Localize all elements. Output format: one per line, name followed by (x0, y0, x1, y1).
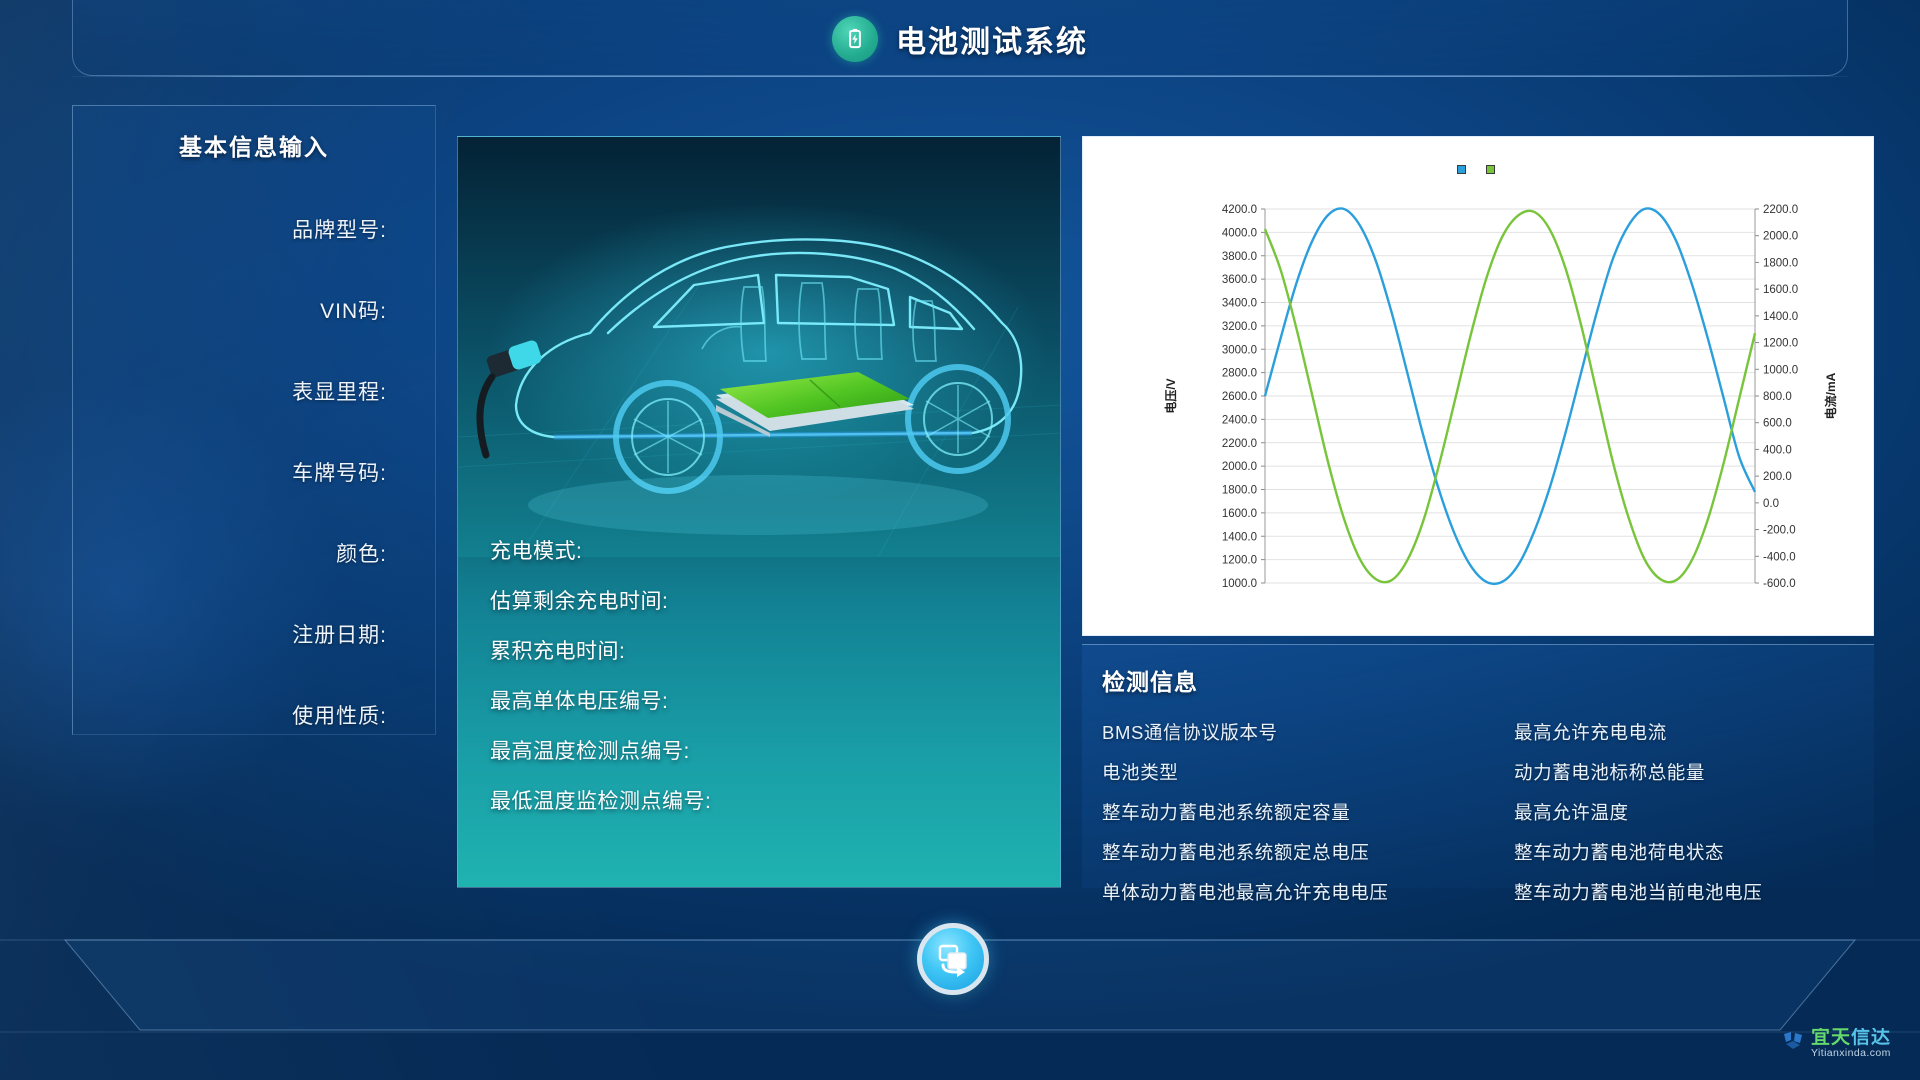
svg-text:-600.0: -600.0 (1763, 578, 1796, 590)
svg-text:4000.0: 4000.0 (1222, 227, 1257, 239)
detect-item-bms-protocol-version[interactable]: BMS通信协议版本号 (1102, 719, 1514, 745)
legend-swatch-voltage (1457, 165, 1466, 174)
svg-text:1000.0: 1000.0 (1222, 578, 1257, 590)
legend-item-current[interactable] (1486, 165, 1499, 174)
detection-info-title: 检测信息 (1102, 663, 1874, 697)
field-label: 表显里程: (292, 376, 387, 406)
charging-field-list: 充电模式: 估算剩余充电时间: 累积充电时间: 最高单体电压编号: 最高温度检测… (490, 535, 1044, 835)
yitian-logo-icon (1780, 1028, 1806, 1059)
field-label: VIN码: (320, 295, 387, 325)
battery-bolt-icon (832, 16, 878, 62)
detect-item-max-allowed-charge-current[interactable]: 最高允许充电电流 (1514, 719, 1874, 745)
svg-text:1000.0: 1000.0 (1763, 364, 1798, 376)
page-title: 电池测试系统 (896, 17, 1088, 61)
svg-text:2600.0: 2600.0 (1222, 391, 1257, 403)
charge-row-estimated-remaining-time[interactable]: 估算剩余充电时间: (490, 585, 1044, 635)
svg-text:3600.0: 3600.0 (1222, 274, 1257, 286)
electric-vehicle-xray-image (458, 137, 1061, 557)
watermark-chinese-text: 宜天信达 (1811, 1028, 1891, 1047)
charge-row-min-temp-probe-id[interactable]: 最低温度监检测点编号: (490, 785, 1044, 835)
detect-item-current-battery-voltage[interactable]: 整车动力蓄电池当前电池电压 (1514, 879, 1874, 905)
charge-label: 充电模式: (490, 535, 582, 565)
charge-label: 最高温度检测点编号: (490, 735, 690, 765)
svg-text:1600.0: 1600.0 (1763, 284, 1798, 296)
detection-info-panel: 检测信息 BMS通信协议版本号 最高允许充电电流 电池类型 动力蓄电池标称总能量… (1082, 644, 1874, 888)
svg-text:0.0: 0.0 (1763, 498, 1779, 510)
detect-item-rated-capacity[interactable]: 整车动力蓄电池系统额定容量 (1102, 799, 1514, 825)
svg-text:1200.0: 1200.0 (1763, 338, 1798, 350)
svg-text:3400.0: 3400.0 (1222, 298, 1257, 310)
svg-text:-200.0: -200.0 (1763, 525, 1796, 537)
svg-text:4200.0: 4200.0 (1222, 204, 1257, 216)
charge-row-max-cell-voltage-id[interactable]: 最高单体电压编号: (490, 685, 1044, 735)
field-row-mileage[interactable]: 表显里程: (73, 376, 387, 457)
chart-y-axis-left-label: 电压/V (1163, 378, 1178, 413)
detect-item-cell-max-charge-voltage[interactable]: 单体动力蓄电池最高允许充电电压 (1102, 879, 1514, 905)
detect-item-max-allowed-temperature[interactable]: 最高允许温度 (1514, 799, 1874, 825)
legend-swatch-current (1486, 165, 1495, 174)
svg-text:200.0: 200.0 (1763, 471, 1792, 483)
charge-label: 最低温度监检测点编号: (490, 785, 711, 815)
basic-info-field-list: 品牌型号: VIN码: 表显里程: 车牌号码: 颜色: 注册日期: 使用性质: (73, 214, 435, 781)
chart-y-axis-right-ticks: -600.0-400.0-200.00.0200.0400.0600.0800.… (1755, 204, 1798, 590)
field-row-color[interactable]: 颜色: (73, 538, 387, 619)
charge-label: 最高单体电压编号: (490, 685, 668, 715)
chart-gridlines (1265, 209, 1755, 583)
field-row-plate-number[interactable]: 车牌号码: (73, 457, 387, 538)
field-label: 车牌号码: (292, 457, 387, 487)
svg-text:1200.0: 1200.0 (1222, 555, 1257, 567)
detection-info-grid: BMS通信协议版本号 最高允许充电电流 电池类型 动力蓄电池标称总能量 整车动力… (1102, 719, 1874, 905)
chart-y-axis-right-label: 电流/mA (1823, 372, 1838, 419)
header-bar: 电池测试系统 (0, 0, 1920, 78)
svg-text:1400.0: 1400.0 (1763, 311, 1798, 323)
legend-item-voltage[interactable] (1457, 165, 1470, 174)
charge-label: 累积充电时间: (490, 635, 625, 665)
watermark: 宜天信达 Yitianxinda.com (1780, 1028, 1891, 1059)
svg-text:1600.0: 1600.0 (1222, 508, 1257, 520)
field-label: 颜色: (336, 538, 387, 568)
svg-text:2400.0: 2400.0 (1222, 414, 1257, 426)
field-row-register-date[interactable]: 注册日期: (73, 619, 387, 700)
charge-row-max-temp-probe-id[interactable]: 最高温度检测点编号: (490, 735, 1044, 785)
field-label: 注册日期: (292, 619, 387, 649)
chart-legend (1083, 165, 1873, 174)
header-divider (72, 76, 1848, 77)
svg-text:1800.0: 1800.0 (1222, 485, 1257, 497)
chart-y-axis-left-ticks: 1000.01200.01400.01600.01800.02000.02200… (1222, 204, 1265, 590)
detect-item-state-of-charge[interactable]: 整车动力蓄电池荷电状态 (1514, 839, 1874, 865)
field-row-brand-model[interactable]: 品牌型号: (73, 214, 387, 295)
charge-label: 估算剩余充电时间: (490, 585, 668, 615)
svg-text:2000.0: 2000.0 (1763, 231, 1798, 243)
svg-text:3200.0: 3200.0 (1222, 321, 1257, 333)
chart-plot-area: 1000.01200.01400.01600.01800.02000.02200… (1083, 185, 1875, 625)
svg-text:1400.0: 1400.0 (1222, 531, 1257, 543)
svg-text:2200.0: 2200.0 (1763, 204, 1798, 216)
detect-item-nominal-total-energy[interactable]: 动力蓄电池标称总能量 (1514, 759, 1874, 785)
voltage-current-chart-panel: 1000.01200.01400.01600.01800.02000.02200… (1082, 136, 1874, 636)
vehicle-charging-panel: 充电模式: 估算剩余充电时间: 累积充电时间: 最高单体电压编号: 最高温度检测… (457, 136, 1061, 888)
svg-text:400.0: 400.0 (1763, 444, 1792, 456)
field-row-usage-type[interactable]: 使用性质: (73, 700, 387, 781)
svg-text:2200.0: 2200.0 (1222, 438, 1257, 450)
switch-screen-button[interactable] (917, 923, 989, 995)
svg-text:1800.0: 1800.0 (1763, 257, 1798, 269)
watermark-domain-text: Yitianxinda.com (1811, 1048, 1891, 1059)
svg-text:600.0: 600.0 (1763, 418, 1792, 430)
field-row-vin[interactable]: VIN码: (73, 295, 387, 376)
field-label: 品牌型号: (292, 214, 387, 244)
svg-text:800.0: 800.0 (1763, 391, 1792, 403)
svg-text:2800.0: 2800.0 (1222, 368, 1257, 380)
charge-row-accumulated-time[interactable]: 累积充电时间: (490, 635, 1044, 685)
detect-item-battery-type[interactable]: 电池类型 (1102, 759, 1514, 785)
charge-row-mode[interactable]: 充电模式: (490, 535, 1044, 585)
sidebar-title: 基本信息输入 (73, 128, 435, 162)
svg-text:3000.0: 3000.0 (1222, 344, 1257, 356)
svg-text:2000.0: 2000.0 (1222, 461, 1257, 473)
svg-text:3800.0: 3800.0 (1222, 251, 1257, 263)
field-label: 使用性质: (292, 700, 387, 730)
detect-item-rated-total-voltage[interactable]: 整车动力蓄电池系统额定总电压 (1102, 839, 1514, 865)
basic-info-panel: 基本信息输入 品牌型号: VIN码: 表显里程: 车牌号码: 颜色: 注册日期:… (72, 105, 436, 735)
svg-text:-400.0: -400.0 (1763, 551, 1796, 563)
